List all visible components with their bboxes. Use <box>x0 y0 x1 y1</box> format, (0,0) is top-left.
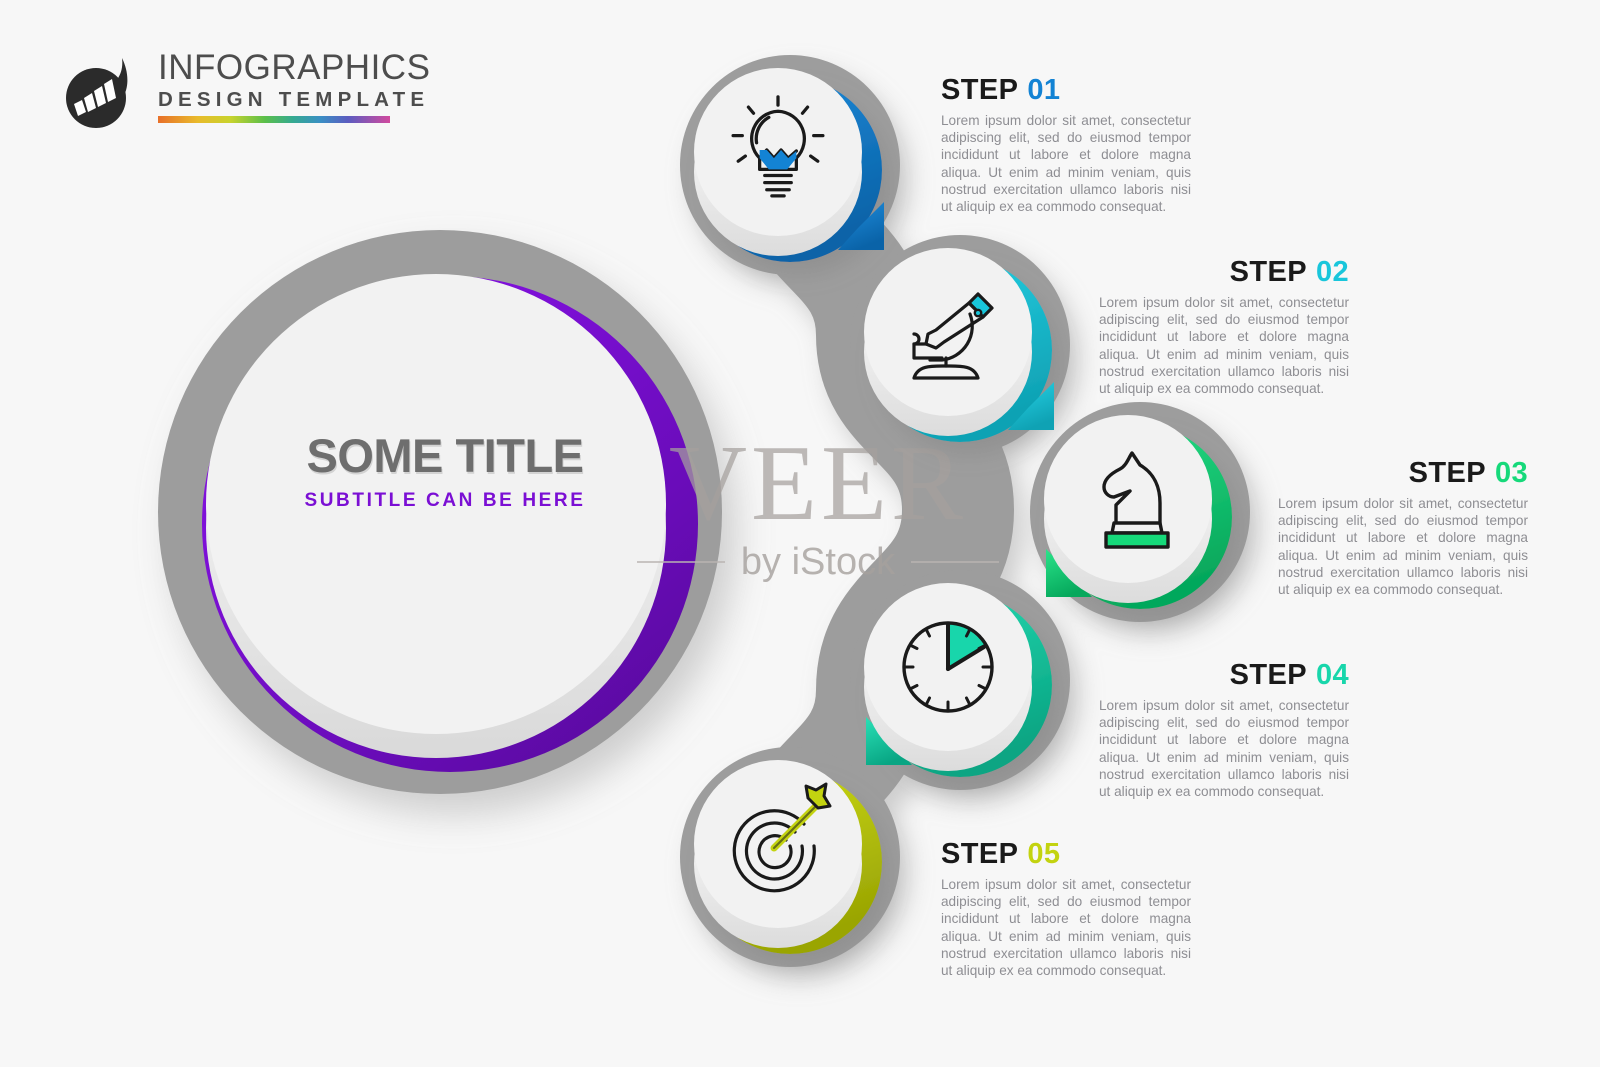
logo[interactable]: INFOGRAPHICS DESIGN TEMPLATE <box>60 48 400 140</box>
logo-line-1: INFOGRAPHICS <box>158 48 398 88</box>
step-pod-5[interactable] <box>694 760 884 954</box>
step-heading-5: STEP05 <box>941 838 1191 870</box>
step-text-5: STEP05 Lorem ipsum dolor sit amet, conse… <box>941 838 1191 979</box>
infographic-canvas: VEER by iStock <box>0 0 1600 1067</box>
step-body-3: Lorem ipsum dolor sit amet, consectetur … <box>1278 495 1528 598</box>
step-label-3: STEP <box>1409 457 1486 489</box>
step-number-5: 05 <box>1027 838 1060 870</box>
page-subtitle: SUBTITLE CAN BE HERE <box>245 490 645 512</box>
step-label-2: STEP <box>1230 256 1307 288</box>
step-number-1: 01 <box>1027 74 1060 106</box>
step-label-5: STEP <box>941 838 1018 870</box>
step-pod-3[interactable] <box>1044 415 1232 609</box>
step-body-4: Lorem ipsum dolor sit amet, consectetur … <box>1099 697 1349 800</box>
logo-text: INFOGRAPHICS DESIGN TEMPLATE <box>158 48 398 123</box>
step-number-2: 02 <box>1316 256 1349 288</box>
step-heading-1: STEP01 <box>941 74 1191 106</box>
step-pod-1[interactable] <box>694 68 884 262</box>
step-label-1: STEP <box>941 74 1018 106</box>
step-text-4: STEP04 Lorem ipsum dolor sit amet, conse… <box>1099 659 1349 800</box>
step-text-3: STEP03 Lorem ipsum dolor sit amet, conse… <box>1278 457 1528 598</box>
step-body-5: Lorem ipsum dolor sit amet, consectetur … <box>941 876 1191 979</box>
step-label-4: STEP <box>1230 659 1307 691</box>
hero-title-block: SOME TITLE SUBTITLE CAN BE HERE <box>245 430 645 512</box>
step-text-1: STEP01 Lorem ipsum dolor sit amet, conse… <box>941 74 1191 215</box>
step-number-4: 04 <box>1316 659 1349 691</box>
step-body-2: Lorem ipsum dolor sit amet, consectetur … <box>1099 294 1349 397</box>
step-pod-4[interactable] <box>864 583 1052 777</box>
step-heading-3: STEP03 <box>1278 457 1528 489</box>
step-pod-2[interactable] <box>864 248 1054 442</box>
page-title: SOME TITLE <box>245 430 645 482</box>
leaf-chart-logo-icon <box>60 56 142 134</box>
step-text-2: STEP02 Lorem ipsum dolor sit amet, conse… <box>1099 256 1349 397</box>
step-body-1: Lorem ipsum dolor sit amet, consectetur … <box>941 112 1191 215</box>
logo-line-2: DESIGN TEMPLATE <box>158 88 398 112</box>
step-heading-4: STEP04 <box>1099 659 1349 691</box>
logo-gradient-bar <box>158 116 390 123</box>
step-heading-2: STEP02 <box>1099 256 1349 288</box>
step-number-3: 03 <box>1495 457 1528 489</box>
